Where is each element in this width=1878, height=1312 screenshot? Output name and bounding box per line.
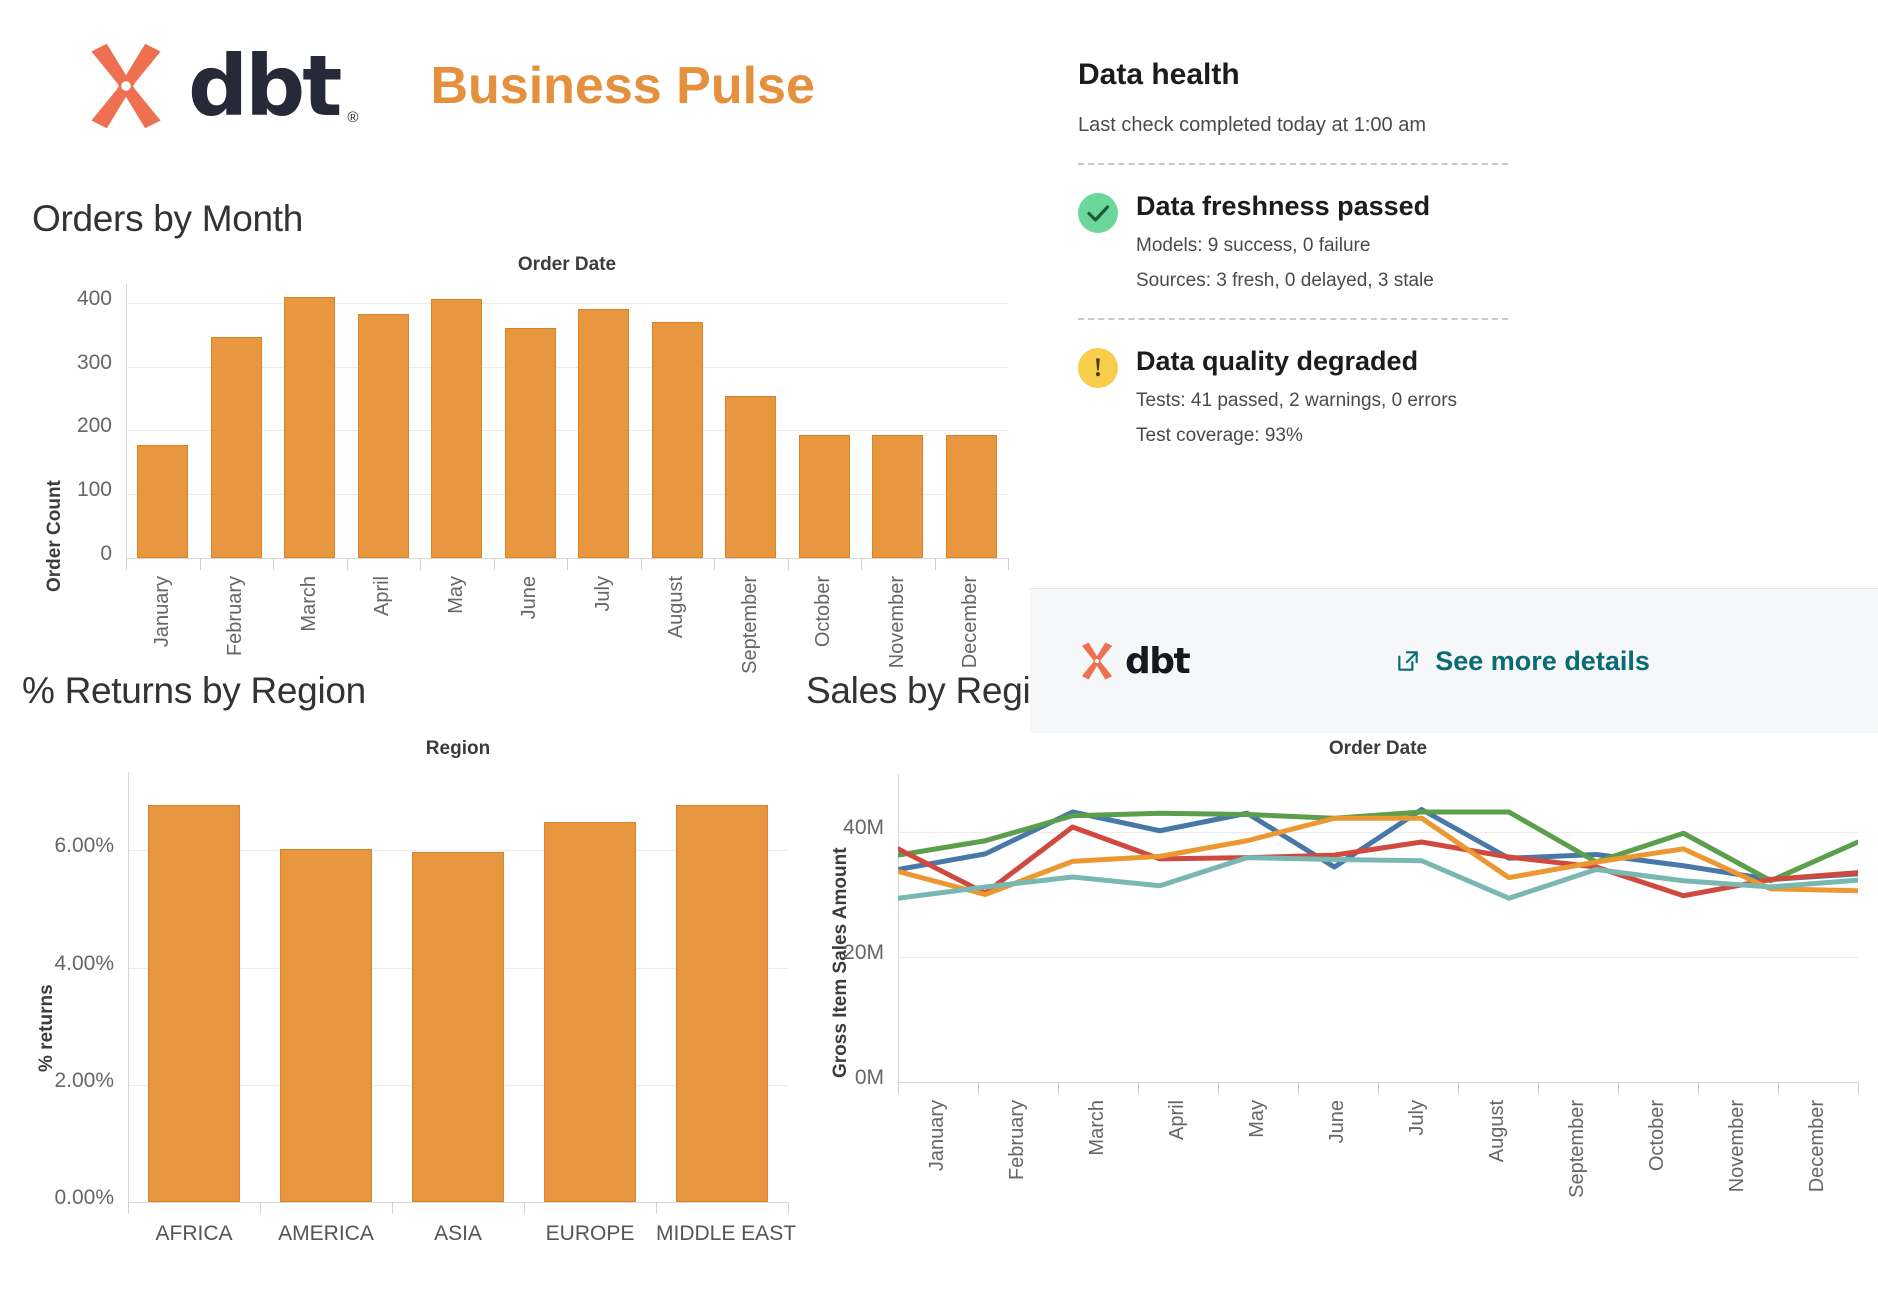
x-tick-label: ASIA xyxy=(392,1222,524,1246)
data-health-title: Data health xyxy=(1078,58,1878,92)
bar[interactable] xyxy=(412,852,504,1202)
see-more-details-label: See more details xyxy=(1435,646,1650,677)
divider xyxy=(1078,318,1508,320)
bar[interactable] xyxy=(148,805,240,1202)
x-tick-mark xyxy=(1008,558,1009,570)
sales-chart-header: Order Date xyxy=(898,738,1858,760)
see-more-details-link[interactable]: See more details xyxy=(1395,646,1650,677)
x-tick-mark xyxy=(1778,1082,1779,1094)
returns-section-title: % Returns by Region xyxy=(22,670,366,712)
dashboard-page: dbt ® Business Pulse Orders by Month Ord… xyxy=(0,0,1878,1312)
bar[interactable] xyxy=(211,337,262,558)
y-axis-line xyxy=(128,772,129,1202)
x-tick-mark xyxy=(641,558,642,570)
x-tick-mark xyxy=(1618,1082,1619,1094)
x-tick-label: January xyxy=(151,576,174,647)
x-tick-mark xyxy=(714,558,715,570)
x-tick-label: May xyxy=(445,576,468,614)
x-tick-label: June xyxy=(1326,1100,1349,1143)
dbt-x-logo-icon xyxy=(1076,640,1118,682)
bar[interactable] xyxy=(137,445,188,558)
x-tick-label: October xyxy=(812,576,835,647)
check-circle-icon xyxy=(1078,193,1118,233)
health-item-body: Data quality degraded Tests: 41 passed, … xyxy=(1136,346,1457,447)
health-item-body: Data freshness passed Models: 9 success,… xyxy=(1136,191,1434,292)
bar[interactable] xyxy=(544,822,636,1202)
bar[interactable] xyxy=(799,435,850,558)
x-tick-label: July xyxy=(592,576,615,612)
y-tick-label: 200 xyxy=(34,414,112,438)
returns-by-region-chart: Region % returns 0.00%2.00%4.00%6.00%AFR… xyxy=(0,720,800,1300)
bar[interactable] xyxy=(946,435,997,558)
bar[interactable] xyxy=(280,849,372,1202)
health-item-line: Test coverage: 93% xyxy=(1136,425,1457,447)
bar[interactable] xyxy=(358,314,409,558)
warning-circle-icon: ! xyxy=(1078,348,1118,388)
orders-section-title: Orders by Month xyxy=(32,198,303,240)
x-tick-label: May xyxy=(1246,1100,1269,1138)
x-tick-label: AMERICA xyxy=(260,1222,392,1246)
x-tick-mark xyxy=(935,558,936,570)
y-tick-label: 6.00% xyxy=(10,834,114,858)
dbt-logo: dbt ® xyxy=(78,38,358,134)
x-tick-mark xyxy=(861,558,862,570)
bar[interactable] xyxy=(505,328,556,558)
dbt-trademark: ® xyxy=(347,109,358,126)
bar[interactable] xyxy=(725,396,776,558)
health-item-title: Data quality degraded xyxy=(1136,346,1457,377)
x-tick-mark xyxy=(898,1082,899,1094)
x-tick-label: January xyxy=(926,1100,949,1171)
sales-by-region-chart: Order Date Gross Item Sales Amount 0M20M… xyxy=(800,720,1878,1310)
y-tick-label: 4.00% xyxy=(10,952,114,976)
x-tick-mark xyxy=(524,1202,525,1214)
x-tick-mark xyxy=(420,558,421,570)
cta-dbt-logo: dbt xyxy=(1076,640,1189,682)
x-tick-label: April xyxy=(1166,1100,1189,1140)
x-tick-label: December xyxy=(959,576,982,668)
x-tick-label: February xyxy=(1006,1100,1029,1180)
x-tick-mark xyxy=(1058,1082,1059,1094)
x-tick-mark xyxy=(1378,1082,1379,1094)
x-tick-label: MIDDLE EAST xyxy=(656,1222,788,1246)
y-tick-label: 400 xyxy=(34,287,112,311)
y-tick-label: 2.00% xyxy=(10,1069,114,1093)
x-tick-label: October xyxy=(1646,1100,1669,1171)
x-tick-mark xyxy=(978,1082,979,1094)
bar[interactable] xyxy=(431,299,482,558)
x-tick-mark xyxy=(200,558,201,570)
x-tick-mark xyxy=(260,1202,261,1214)
x-tick-mark xyxy=(1298,1082,1299,1094)
bar[interactable] xyxy=(284,297,335,558)
y-tick-label: 0.00% xyxy=(10,1186,114,1210)
divider xyxy=(1078,163,1508,165)
x-tick-mark xyxy=(788,558,789,570)
x-tick-mark xyxy=(1458,1082,1459,1094)
dbt-x-logo-icon xyxy=(78,38,174,134)
y-tick-label: 40M xyxy=(806,816,884,840)
x-tick-label: EUROPE xyxy=(524,1222,656,1246)
x-tick-mark xyxy=(567,558,568,570)
x-axis-line xyxy=(128,1202,788,1203)
page-title: Business Pulse xyxy=(430,56,814,116)
x-tick-label: March xyxy=(1086,1100,1109,1156)
x-tick-mark xyxy=(126,558,127,570)
x-tick-mark xyxy=(1698,1082,1699,1094)
x-tick-mark xyxy=(347,558,348,570)
x-tick-mark xyxy=(788,1202,789,1214)
y-tick-label: 300 xyxy=(34,351,112,375)
exclamation-glyph: ! xyxy=(1078,348,1118,388)
y-tick-label: 100 xyxy=(34,478,112,502)
x-tick-label: August xyxy=(665,576,688,638)
bar[interactable] xyxy=(578,309,629,558)
bar[interactable] xyxy=(652,322,703,558)
x-tick-mark xyxy=(128,1202,129,1214)
x-tick-mark xyxy=(1858,1082,1859,1094)
x-tick-label: November xyxy=(1726,1100,1749,1192)
x-tick-mark xyxy=(1138,1082,1139,1094)
sales-lines xyxy=(898,782,1858,1082)
x-tick-mark xyxy=(1218,1082,1219,1094)
dashboard-header: dbt ® Business Pulse xyxy=(78,38,815,134)
y-axis-line xyxy=(126,284,127,558)
x-tick-label: November xyxy=(886,576,909,668)
data-health-panel: Data health Last check completed today a… xyxy=(1078,58,1878,447)
x-tick-label: August xyxy=(1486,1100,1509,1162)
x-tick-label: AFRICA xyxy=(128,1222,260,1246)
health-item-line: Tests: 41 passed, 2 warnings, 0 errors xyxy=(1136,390,1457,412)
external-link-icon xyxy=(1395,648,1421,674)
x-tick-label: March xyxy=(298,576,321,632)
x-tick-label: June xyxy=(518,576,541,619)
y-tick-label: 20M xyxy=(806,941,884,965)
x-tick-label: April xyxy=(371,576,394,616)
health-item-title: Data freshness passed xyxy=(1136,191,1434,222)
x-tick-mark xyxy=(273,558,274,570)
y-tick-label: 0 xyxy=(34,542,112,566)
orders-by-month-chart: Order Date Order Count 0100200300400Janu… xyxy=(0,250,1020,650)
orders-chart-header: Order Date xyxy=(126,254,1008,276)
x-tick-label: September xyxy=(1566,1100,1589,1198)
health-item-line: Sources: 3 fresh, 0 delayed, 3 stale xyxy=(1136,270,1434,292)
health-item-freshness: Data freshness passed Models: 9 success,… xyxy=(1078,191,1878,292)
data-health-subtitle: Last check completed today at 1:00 am xyxy=(1078,114,1878,137)
x-tick-label: December xyxy=(1806,1100,1829,1192)
cta-dbt-wordmark: dbt xyxy=(1125,641,1189,682)
x-tick-label: September xyxy=(739,576,762,674)
returns-plot-area: 0.00%2.00%4.00%6.00%AFRICAAMERICAASIAEUR… xyxy=(128,780,788,1258)
sales-y-axis-label: Gross Item Sales Amount xyxy=(830,768,852,1078)
x-tick-mark xyxy=(1538,1082,1539,1094)
see-more-details-card[interactable]: dbt See more details xyxy=(1030,588,1878,733)
health-item-line: Models: 9 success, 0 failure xyxy=(1136,235,1434,257)
gridline xyxy=(126,303,1008,304)
sales-plot-area: 0M20M40MJanuaryFebruaryMarchAprilMayJune… xyxy=(898,782,1858,1198)
dbt-wordmark: dbt xyxy=(188,44,339,128)
y-tick-label: 0M xyxy=(806,1066,884,1090)
returns-y-axis-label: % returns xyxy=(36,902,58,1072)
x-tick-mark xyxy=(656,1202,657,1214)
returns-chart-header: Region xyxy=(128,738,788,760)
x-tick-label: July xyxy=(1406,1100,1429,1136)
bar[interactable] xyxy=(872,435,923,558)
health-item-quality: ! Data quality degraded Tests: 41 passed… xyxy=(1078,346,1878,447)
x-tick-label: February xyxy=(224,576,247,656)
x-tick-mark xyxy=(392,1202,393,1214)
x-tick-mark xyxy=(494,558,495,570)
bar[interactable] xyxy=(676,805,768,1202)
